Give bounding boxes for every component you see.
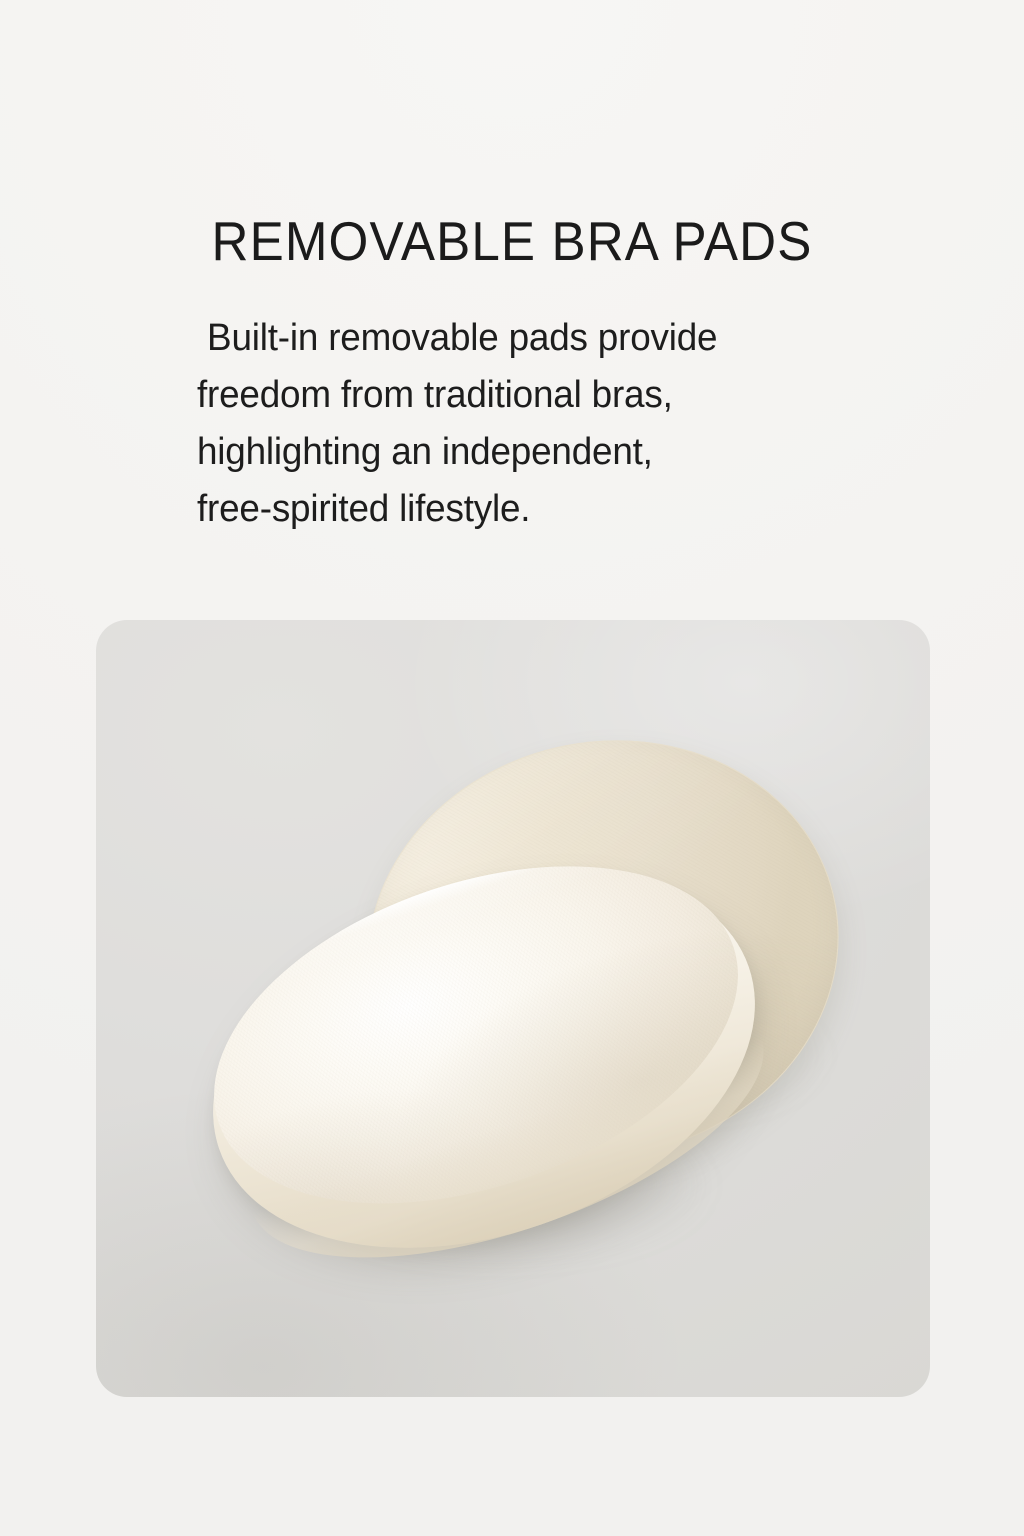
product-photo <box>96 620 930 1397</box>
description-line: freedom from traditional bras, <box>197 367 876 424</box>
page-title: REMOVABLE BRA PADS <box>36 209 988 273</box>
description-line: highlighting an independent, <box>197 424 876 481</box>
description-block: Built-in removable pads provide freedom … <box>197 310 876 538</box>
product-image-card <box>96 620 930 1397</box>
description-line: Built-in removable pads provide <box>197 310 876 367</box>
description-line: free-spirited lifestyle. <box>197 481 876 538</box>
page-root: REMOVABLE BRA PADS Built-in removable pa… <box>0 0 1024 1536</box>
